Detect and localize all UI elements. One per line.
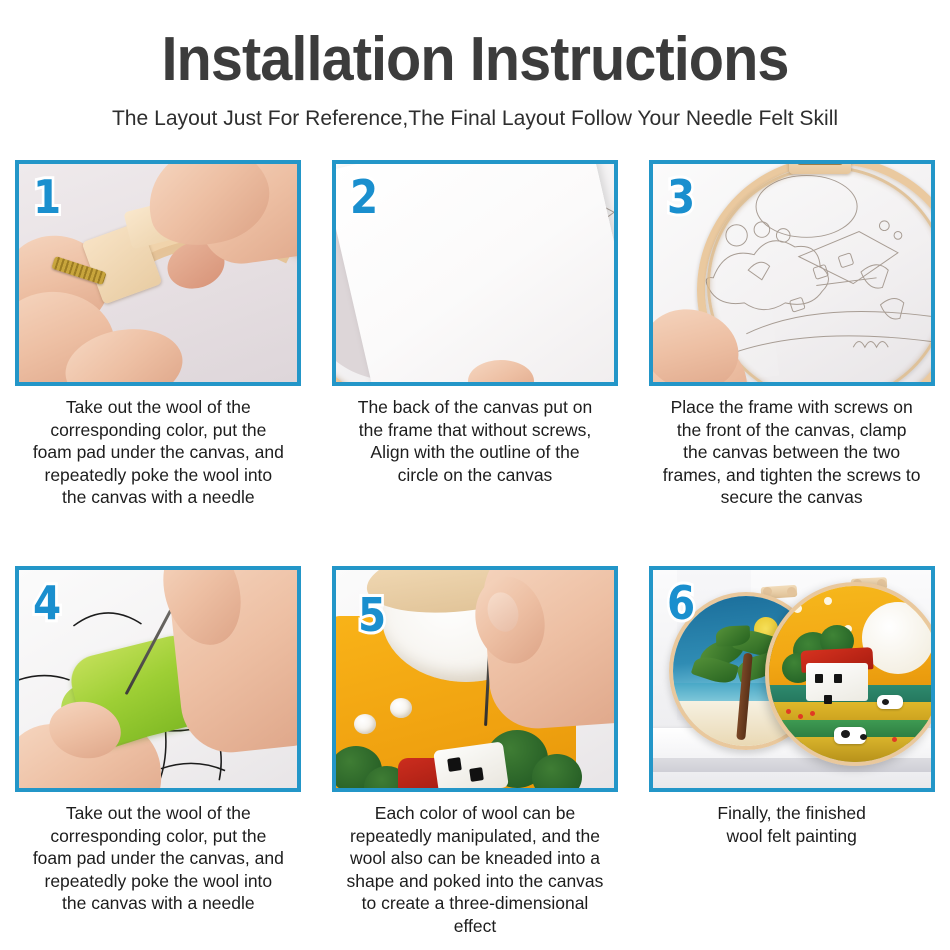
felted-window bbox=[469, 767, 484, 782]
step-caption: Finally, the finished wool felt painting bbox=[642, 802, 942, 847]
sheet-header: Installation Instructions The Layout Jus… bbox=[0, 0, 950, 130]
page-subtitle: The Layout Just For Reference,The Final … bbox=[10, 106, 941, 130]
step-photo-5: 5 bbox=[332, 566, 618, 792]
step-photo-6: 6 bbox=[649, 566, 935, 792]
felted-window bbox=[815, 674, 823, 683]
steps-grid-row-2: 4 Take out the wool of the corresponding… bbox=[0, 548, 950, 937]
step-photo-1: 1 bbox=[15, 160, 301, 386]
cow-spot bbox=[882, 699, 889, 705]
step-card-1: 1 Take out the wool of the corresponding… bbox=[0, 160, 316, 509]
felted-dot bbox=[824, 597, 832, 605]
felted-cow-icon bbox=[877, 695, 903, 709]
step-card-4: 4 Take out the wool of the corresponding… bbox=[0, 566, 316, 937]
screw-icon bbox=[797, 164, 843, 165]
step-photo-4: 4 bbox=[15, 566, 301, 792]
felted-flower-icon bbox=[810, 711, 815, 716]
step-number-badge: 3 bbox=[667, 174, 695, 220]
step-number-badge: 2 bbox=[350, 174, 378, 220]
step-card-2: 2 The back of the canvas put on the fram… bbox=[317, 160, 633, 509]
cow-spot bbox=[860, 734, 867, 740]
felted-dot bbox=[793, 604, 802, 613]
step-caption: Take out the wool of the corresponding c… bbox=[8, 802, 308, 915]
step-card-6: 6 Finally, the finished wool felt painti… bbox=[634, 566, 950, 937]
steps-grid: 1 Take out the wool of the corresponding… bbox=[0, 160, 950, 509]
step-number-badge: 6 bbox=[667, 580, 695, 626]
page-title: Installation Instructions bbox=[33, 28, 917, 92]
step-caption: Take out the wool of the corresponding c… bbox=[8, 396, 308, 509]
step-number-badge: 1 bbox=[33, 174, 61, 220]
step-card-3: 3 Place the frame with screws on the fro… bbox=[634, 160, 950, 509]
step-caption: Each color of wool can be repeatedly man… bbox=[325, 802, 625, 937]
step-photo-3: 3 bbox=[649, 160, 935, 386]
finished-hoop-countryside bbox=[765, 582, 931, 766]
instruction-sheet: Installation Instructions The Layout Jus… bbox=[0, 0, 950, 950]
felted-dot bbox=[390, 698, 412, 718]
step-photo-2: 2 bbox=[332, 160, 618, 386]
step-card-5: 5 Each color of wool can be repeatedly m… bbox=[317, 566, 633, 937]
step-number-badge: 5 bbox=[358, 592, 386, 638]
felted-window bbox=[834, 674, 842, 683]
step-number-badge: 4 bbox=[33, 580, 61, 626]
felted-window bbox=[447, 757, 462, 772]
step-caption: The back of the canvas put on the frame … bbox=[325, 396, 625, 486]
felted-dot bbox=[354, 714, 376, 734]
step-caption: Place the frame with screws on the front… bbox=[642, 396, 942, 509]
hoop-clamp-icon bbox=[789, 164, 851, 174]
felted-window bbox=[824, 695, 832, 704]
